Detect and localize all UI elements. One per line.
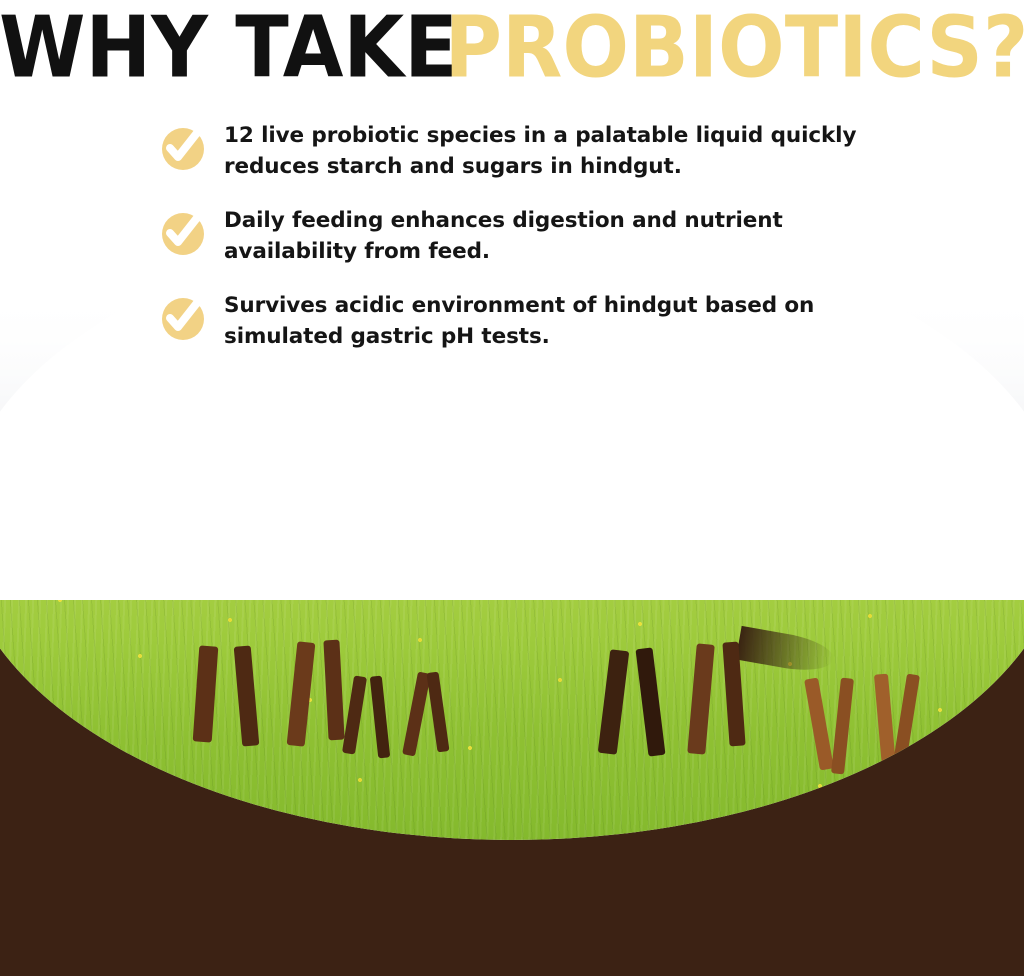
list-item: 12 live probiotic species in a palatable… [160, 120, 890, 182]
check-circle-icon [160, 124, 206, 170]
benefits-list: 12 live probiotic species in a palatable… [160, 120, 890, 375]
check-circle-icon [160, 209, 206, 255]
page-title: WHY TAKE PROBIOTICS? [0, 0, 1024, 95]
list-item-label: 12 live probiotic species in a palatable… [224, 120, 890, 182]
poster-canvas: WHY TAKE PROBIOTICS? 12 live probiotic s… [0, 0, 1024, 976]
headline-part-one: WHY TAKE [0, 5, 458, 89]
check-circle-icon [160, 294, 206, 340]
list-item: Survives acidic environment of hindgut b… [160, 290, 890, 352]
headline-part-two: PROBIOTICS? [444, 5, 1024, 89]
brown-footer-panel [0, 600, 1024, 976]
list-item: Daily feeding enhances digestion and nut… [160, 205, 890, 267]
list-item-label: Daily feeding enhances digestion and nut… [224, 205, 890, 267]
list-item-label: Survives acidic environment of hindgut b… [224, 290, 890, 352]
